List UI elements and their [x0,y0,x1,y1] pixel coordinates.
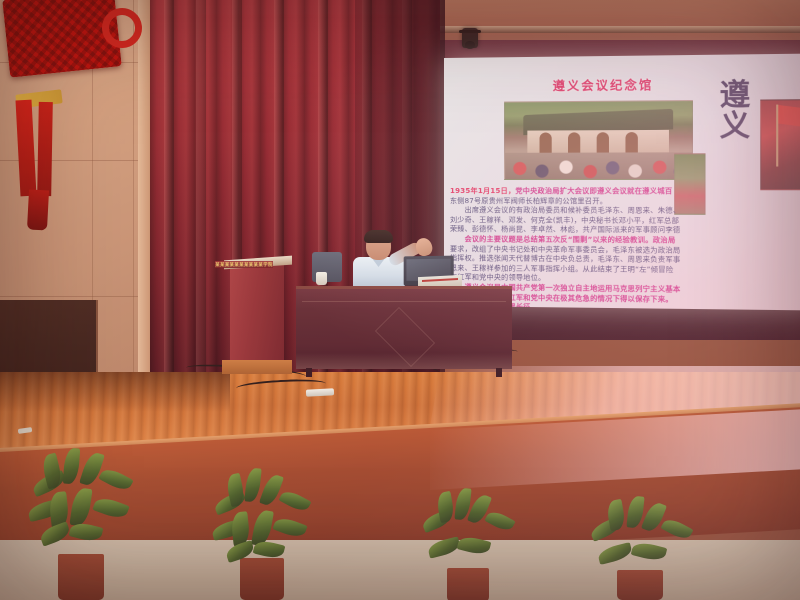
conference-table [296,286,512,369]
knot-tassel-tail [27,190,49,231]
power-strip [306,388,334,396]
projection-screen: 遵义会议纪念馆 遵义 1935年1月15日，党中央政治局扩大会议即遵义会议就在遵… [444,54,800,311]
lectern-plaque-text: 某某某某某某某某某某学院 [215,262,273,268]
lectern [230,262,284,370]
slide-text-segment: 会议的主要议题是总结第五次反“围剿”以来的经验教训。政治局 [450,234,675,244]
zunyi-conference-site-photo [504,100,693,180]
slide-text-segment: 荣臻、彭德怀、杨尚昆、李卓然、林彪，共产国际派来的军事顾问李德 [450,224,681,234]
slide-text-segment: 在红军和党中央的领导地位。 [450,272,545,282]
lectern-base [222,360,292,374]
stage-floor-shadow [0,372,230,412]
potted-plant [418,490,518,600]
drinking-cup [316,272,327,285]
lectern-nameplate: 某某某某某某某某某某学院 [215,261,273,268]
red-flag-photo [760,99,800,190]
chinese-knot-decoration [6,0,126,94]
potted-plant [210,468,314,600]
stage-light-icon [462,28,478,48]
slide-text-segment: 东侧87号原贵州军阀师长柏辉章的公馆里召开。 [450,196,607,205]
slide-heading: 遵义会议纪念馆 [553,76,654,94]
slide-text-segment: 出席遵义会议的有政治局委员和候补委员毛泽东、周恩来、朱德、 [450,205,681,215]
potted-plant [584,500,696,600]
slide-big-word: 遵义 [714,79,756,142]
presenter [352,232,406,288]
knot-tassel-right [37,102,53,196]
lecture-hall-photo: 遵义会议纪念馆 遵义 1935年1月15日，党中央政治局扩大会议即遵义会议就在遵… [0,0,800,600]
slide-text-segment: 1935年1月15日， [450,186,515,195]
slide-body-line: 1935年1月15日，党中央政治局扩大会议即遵义会议就在遵义城百 [450,186,800,196]
slide-text-segment: 刘少奇、王稼祥、邓发、何克全(凯丰)，中央秘书长邓小平，红军总部 [450,215,679,225]
slide-text-segment: 党中央政治局扩大会议即遵义会议就在遵义城百 [515,186,672,195]
potted-plant [26,446,136,600]
